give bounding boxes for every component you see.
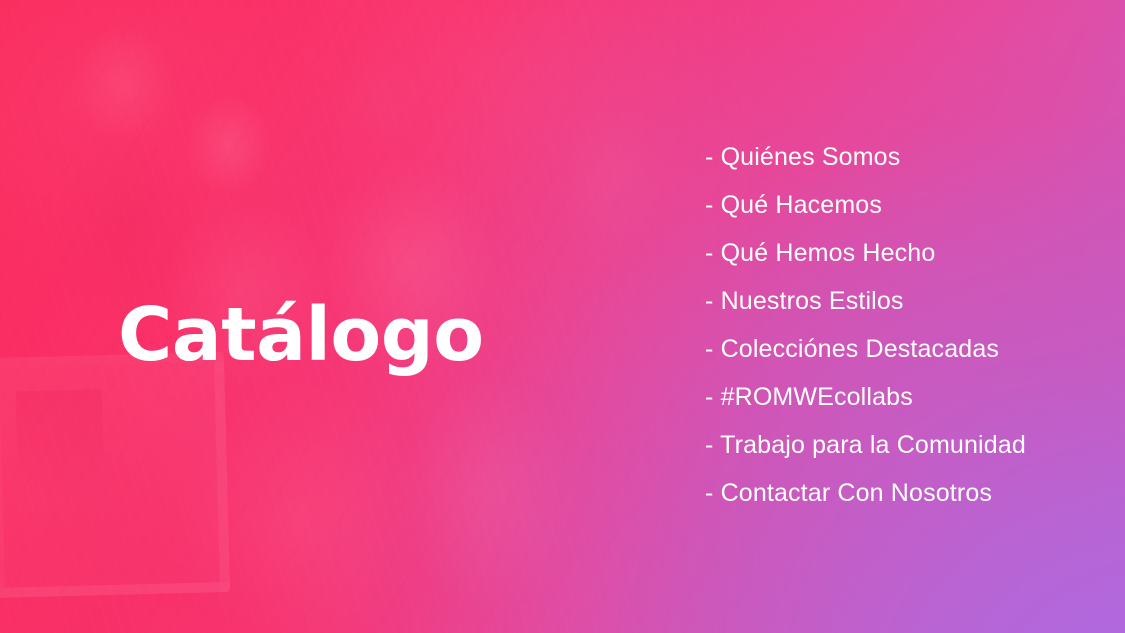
- presentation-slide: Catálogo - Quiénes Somos - Qué Hacemos -…: [0, 0, 1125, 633]
- list-item[interactable]: - Nuestros Estilos: [705, 277, 1105, 325]
- list-item[interactable]: - Qué Hemos Hecho: [705, 229, 1105, 277]
- list-item[interactable]: - Contactar Con Nosotros: [705, 469, 1105, 517]
- agenda-list: - Quiénes Somos - Qué Hacemos - Qué Hemo…: [705, 133, 1105, 517]
- page-title: Catálogo: [118, 298, 484, 372]
- list-item[interactable]: - Colecciónes Destacadas: [705, 325, 1105, 373]
- list-item[interactable]: - Qué Hacemos: [705, 181, 1105, 229]
- list-item[interactable]: - Quiénes Somos: [705, 133, 1105, 181]
- list-item[interactable]: - Trabajo para la Comunidad: [705, 421, 1105, 469]
- list-item[interactable]: - #ROMWEcollabs: [705, 373, 1105, 421]
